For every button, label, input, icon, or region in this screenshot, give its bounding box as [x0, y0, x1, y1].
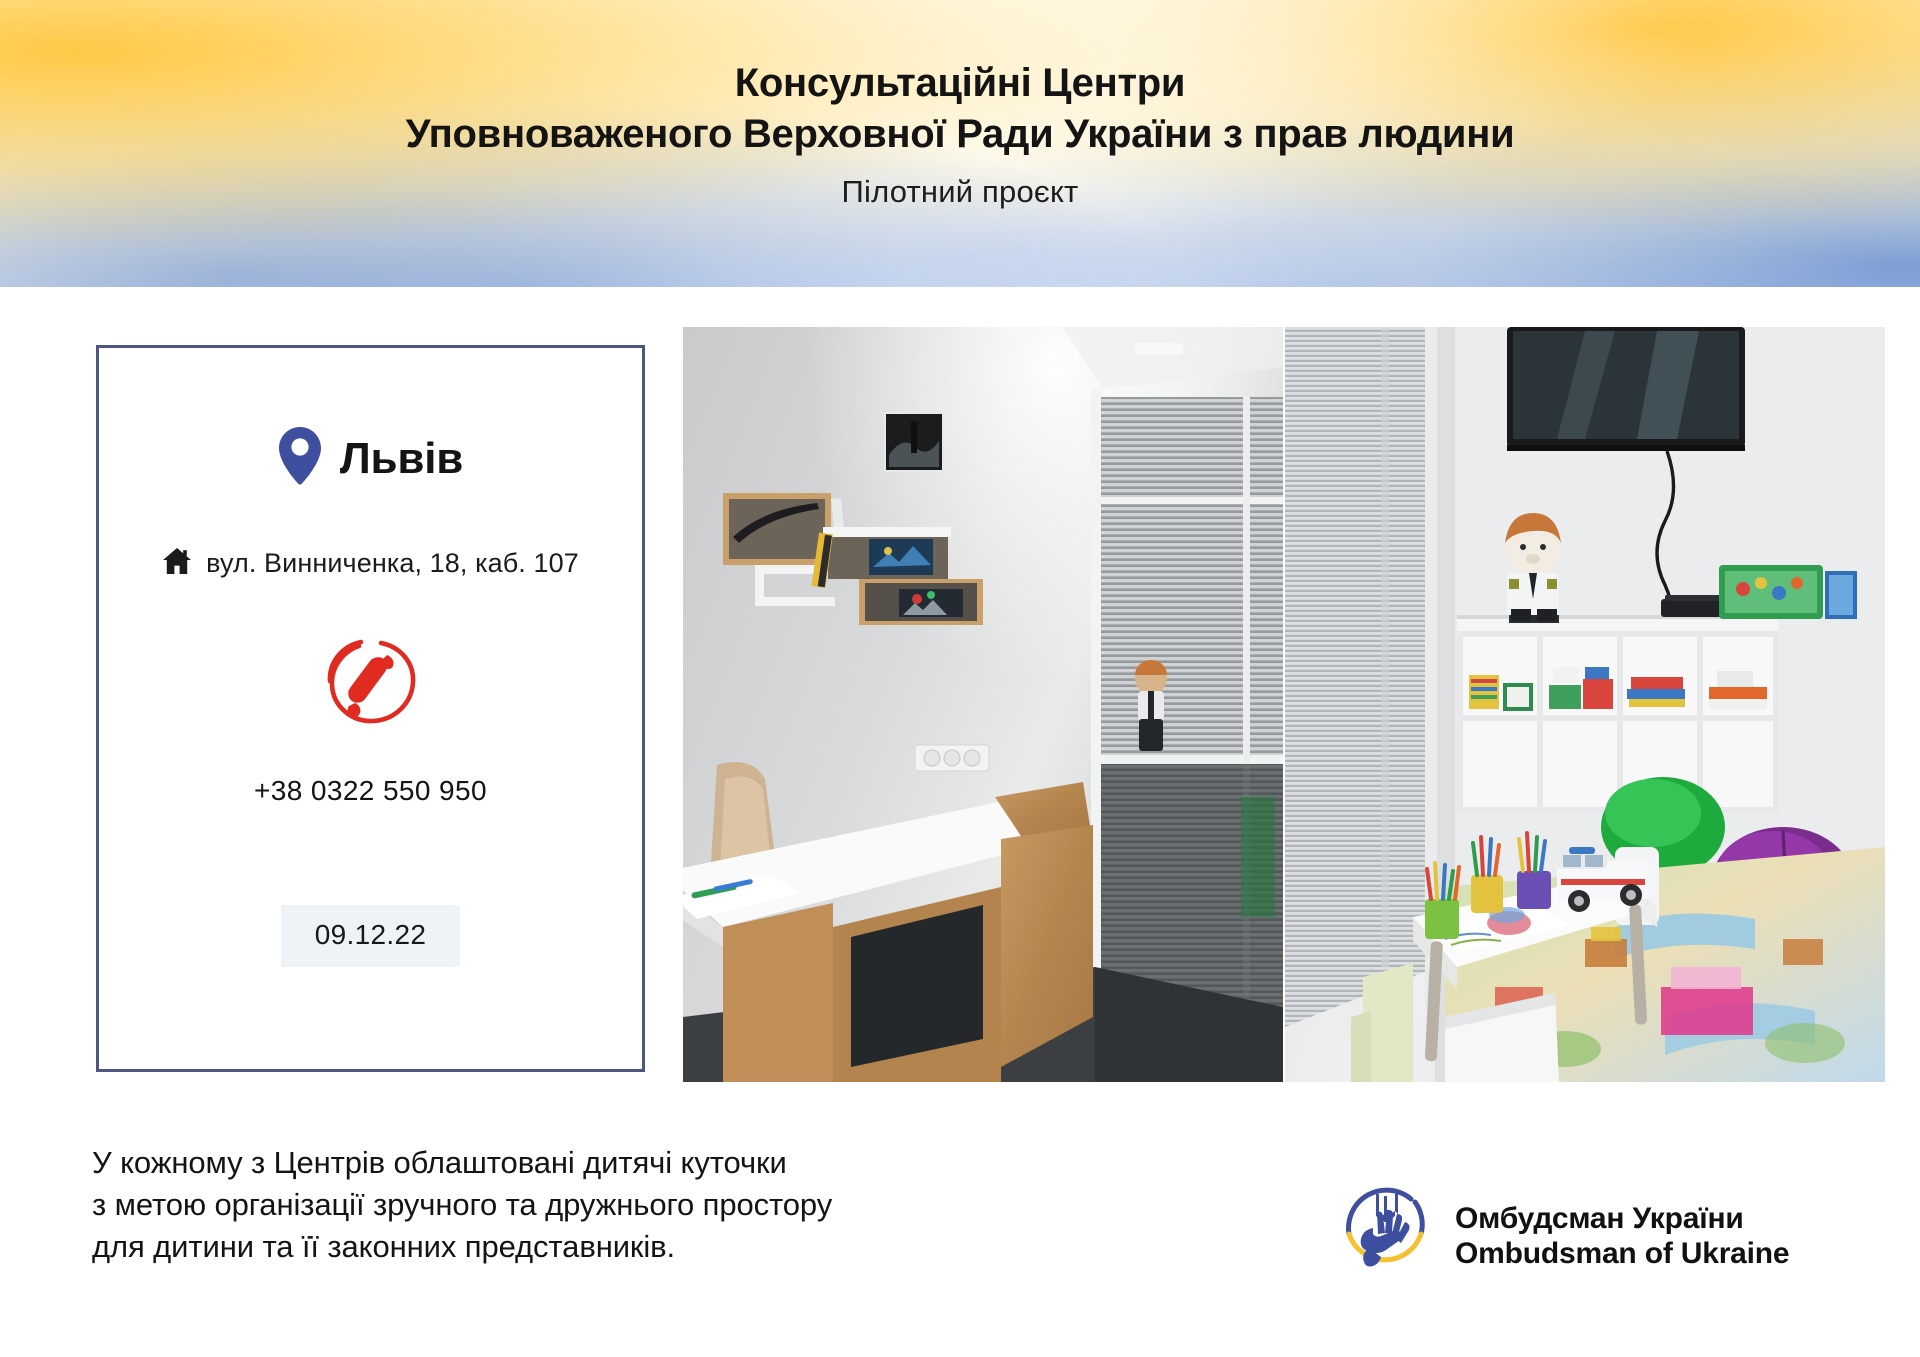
header-band: Консультаційні Центри Уповноваженого Вер… [0, 0, 1920, 287]
address-row: вул. Винниченка, 18, каб. 107 [138, 547, 603, 580]
caption-line-2: з метою організації зручного та дружньог… [92, 1184, 1152, 1226]
home-icon [162, 547, 192, 580]
caption-text: У кожному з Центрів облаштовані дитячі к… [92, 1142, 1152, 1268]
ombudsman-emblem-icon [1333, 1182, 1437, 1291]
ombudsman-logo: Омбудсман України Ombudsman of Ukraine [1333, 1182, 1789, 1291]
consultation-room-photo [683, 327, 1283, 1082]
ombudsman-name-en: Ombudsman of Ukraine [1455, 1237, 1789, 1272]
city-row: Львів [278, 426, 463, 491]
phone-number: +38 0322 550 950 [254, 775, 487, 807]
ombudsman-logo-text: Омбудсман України Ombudsman of Ukraine [1455, 1202, 1789, 1272]
city-name: Львів [340, 437, 463, 481]
date-badge: 09.12.22 [281, 905, 460, 967]
ombudsman-name-uk: Омбудсман України [1455, 1202, 1789, 1237]
page-title-line-2: Уповноваженого Верховної Ради України з … [406, 109, 1515, 160]
caption-line-1: У кожному з Центрів облаштовані дитячі к… [92, 1142, 1152, 1184]
phone-icon [321, 632, 421, 737]
childrens-corner-photo [1285, 327, 1885, 1082]
caption-line-3: для дитини та її законних представників. [92, 1226, 1152, 1268]
poster-root: Консультаційні Центри Уповноваженого Вер… [0, 0, 1920, 1357]
address-text: вул. Винниченка, 18, каб. 107 [206, 548, 579, 579]
main-content: Львів вул. Винниченка, 18, каб. 107 [0, 287, 1920, 1357]
page-subtitle: Пілотний проєкт [842, 174, 1079, 210]
page-title-line-1: Консультаційні Центри [735, 58, 1185, 109]
location-pin-icon [278, 426, 322, 491]
header-content: Консультаційні Центри Уповноваженого Вер… [0, 0, 1920, 287]
center-info-card: Львів вул. Винниченка, 18, каб. 107 [96, 345, 645, 1072]
